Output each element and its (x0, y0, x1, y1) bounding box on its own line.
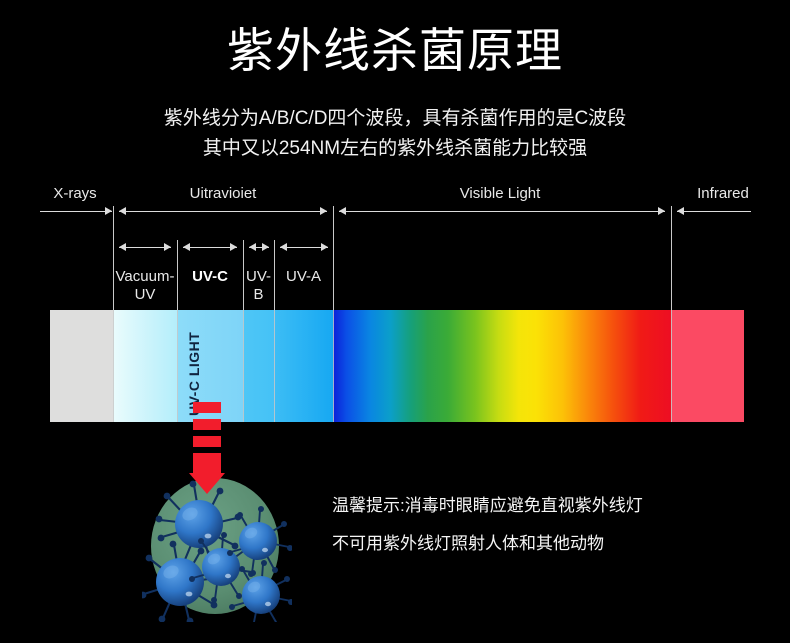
bar-divider-visible-ir (671, 310, 672, 422)
arrow-head-right-icon (321, 243, 328, 251)
uvc-light-label: UV-C LIGHT (185, 316, 203, 416)
beam-arrow-shaft (193, 453, 221, 475)
spectrum-segment-visible (333, 310, 671, 422)
arrow-head-right-icon (164, 243, 171, 251)
band-label-infrared: Infrared (678, 184, 768, 204)
arrow-infrared (677, 206, 751, 218)
bar-divider-uv-visible (333, 310, 334, 422)
spectrum-segment-xray (50, 310, 113, 422)
beam-dash (193, 419, 221, 430)
arrow-ultraviolet (119, 206, 327, 218)
arrow-head-right-icon (262, 243, 269, 251)
spectrum-segment-uva (274, 310, 333, 422)
arrow-head-right-icon (658, 207, 665, 215)
spectrum-color-bar: UV-C LIGHT (50, 310, 744, 422)
arrow-uvb (249, 242, 269, 254)
subtitle-line-1: 紫外线分为A/B/C/D四个波段，具有杀菌作用的是C波段 (0, 104, 790, 134)
divider-visible-ir (671, 206, 672, 310)
warning-text-block: 温馨提示:消毒时眼睛应避免直视紫外线灯 不可用紫外线灯照射人体和其他动物 (332, 487, 752, 563)
arrow-uva (280, 242, 328, 254)
beam-arrow-head (189, 473, 225, 494)
sub-band-label-uva: UV-A (274, 268, 333, 286)
arrow-visible-light (339, 206, 665, 218)
spectrum-segment-infrared (671, 310, 744, 422)
arrow-line (40, 211, 112, 212)
sub-band-label-vacuum-uv: Vacuum-UV (113, 268, 177, 304)
beam-dash (193, 436, 221, 447)
arrow-head-left-icon (119, 243, 126, 251)
spectrum-segment-uvb (243, 310, 274, 422)
warning-line-1: 温馨提示:消毒时眼睛应避免直视紫外线灯 (332, 487, 752, 525)
arrow-line (183, 247, 237, 248)
beam-dash (193, 402, 221, 413)
bar-divider-uvc-uvb (243, 310, 244, 422)
sub-band-label-uvb: UV-B (243, 268, 274, 304)
page-title: 紫外线杀菌原理 (0, 22, 790, 80)
uv-beam-arrow-icon (189, 402, 225, 492)
subtitle-line-2: 其中又以254NM左右的紫外线杀菌能力比较强 (0, 134, 790, 164)
arrow-uvc (183, 242, 237, 254)
arrow-head-left-icon (249, 243, 256, 251)
subtitle-block: 紫外线分为A/B/C/D四个波段，具有杀菌作用的是C波段 其中又以254NM左右… (0, 104, 790, 164)
arrow-head-left-icon (677, 207, 684, 215)
arrow-head-left-icon (339, 207, 346, 215)
arrow-line (339, 211, 665, 212)
arrow-head-left-icon (119, 207, 126, 215)
arrow-xrays (40, 206, 112, 218)
spectrum-diagram: X-rays Uitravioiet Visible Light Infrare… (0, 180, 790, 430)
bar-divider-uvb-uva (274, 310, 275, 422)
bar-divider-xray-uv (113, 310, 114, 422)
arrow-head-left-icon (280, 243, 287, 251)
arrow-head-left-icon (183, 243, 190, 251)
band-label-ultraviolet: Uitravioiet (150, 184, 296, 204)
band-label-visible-light: Visible Light (400, 184, 600, 204)
warning-line-2: 不可用紫外线灯照射人体和其他动物 (332, 525, 752, 563)
arrow-line (677, 211, 751, 212)
band-label-xrays: X-rays (43, 184, 107, 204)
arrow-line (119, 211, 327, 212)
spectrum-segment-vacuum-uv (113, 310, 177, 422)
arrow-head-right-icon (105, 207, 112, 215)
bar-divider-vacuumuv-uvc (177, 310, 178, 422)
arrow-vacuum-uv (119, 242, 171, 254)
arrow-head-right-icon (230, 243, 237, 251)
arrow-head-right-icon (320, 207, 327, 215)
sub-band-label-uvc: UV-C (177, 268, 243, 286)
divider-uv-visible (333, 206, 334, 310)
